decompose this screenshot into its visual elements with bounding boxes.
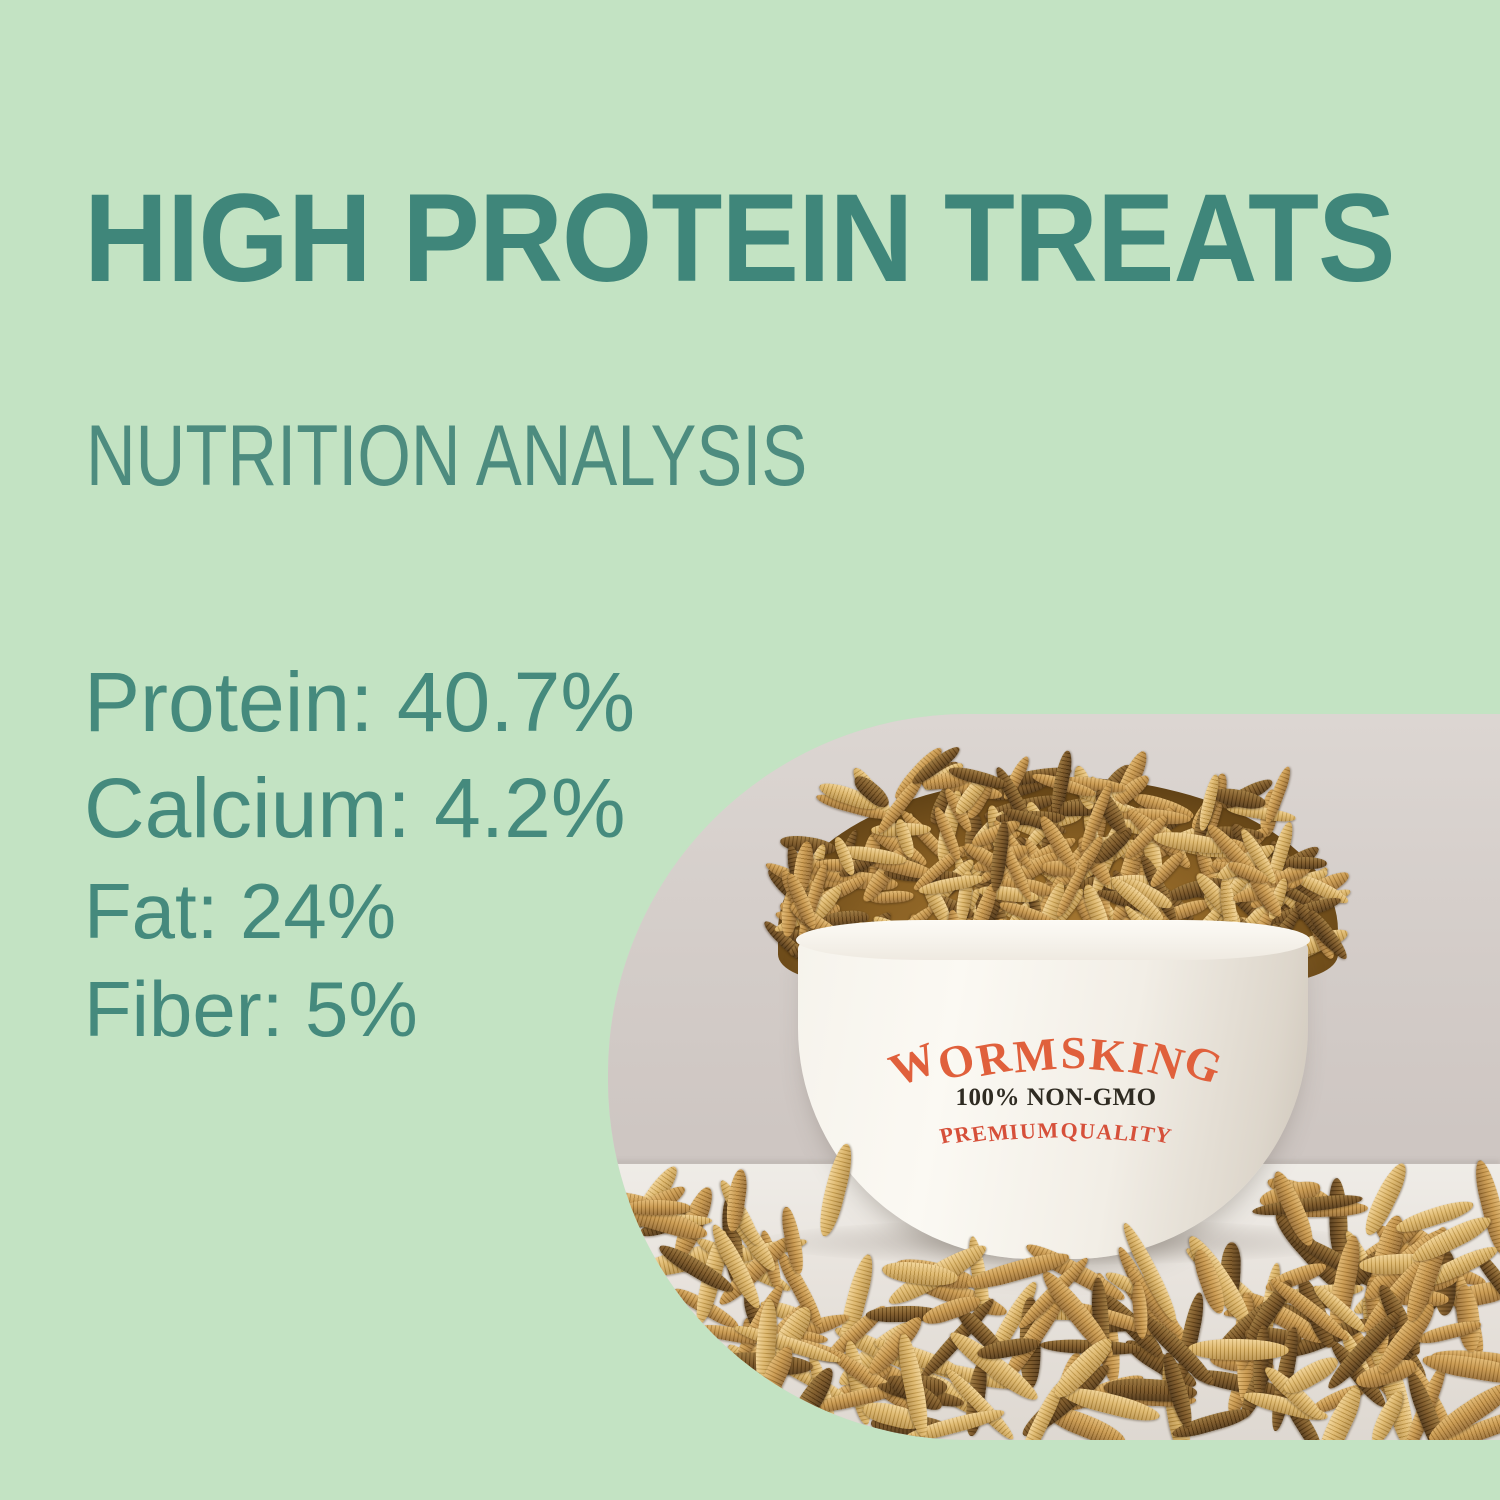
larva <box>1285 857 1327 870</box>
page-title: HIGH PROTEIN TREATS <box>84 176 1367 301</box>
bowl-rim <box>796 920 1310 960</box>
larva <box>1471 1158 1500 1257</box>
page-subtitle: NUTRITION ANALYSIS <box>86 413 807 499</box>
larva <box>625 1200 691 1216</box>
product-infographic: HIGH PROTEIN TREATS NUTRITION ANALYSIS P… <box>0 0 1500 1500</box>
product-photo: WORMSKING 100% NON-GMO PREMIUM QUALITY <box>608 714 1500 1440</box>
scattered-larvae <box>608 1169 1500 1440</box>
